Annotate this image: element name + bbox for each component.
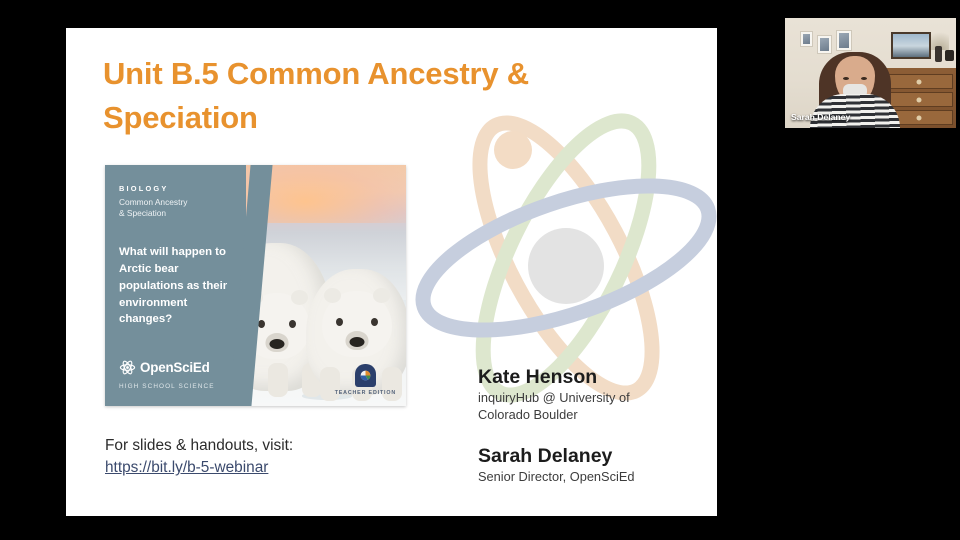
participant-name-label: Sarah Delaney [791, 112, 850, 122]
page-title: Unit B.5 Common Ancestry & Speciation [103, 52, 623, 140]
presenter-kate-henson: Kate Henson inquiryHub @ University of C… [478, 365, 703, 424]
status-badge: TEACHER EDITION [335, 364, 396, 396]
cover-subject: BIOLOGY [119, 184, 232, 193]
cover-unit-line-1: Common Ancestry [119, 197, 232, 208]
cover-text-panel: BIOLOGY Common Ancestry & Speciation Wha… [105, 165, 246, 406]
presenter-name: Sarah Delaney [478, 444, 703, 469]
teacher-edition-seal-icon [355, 364, 376, 387]
cover-unit-line-2: & Speciation [119, 208, 232, 219]
opensci-ed-logo: OpenSciEd [119, 359, 210, 376]
handouts-label: For slides & handouts, visit: [105, 435, 395, 457]
presenter-affiliation-line-1: Senior Director, OpenSciEd [478, 469, 703, 486]
cover-program-line: HIGH SCHOOL SCIENCE [119, 383, 215, 390]
handouts-link-block: For slides & handouts, visit: https://bi… [105, 435, 395, 480]
wall-picture-frame [800, 31, 813, 47]
atom-icon [119, 359, 136, 376]
webcam-video-tile[interactable]: Sarah Delaney [785, 18, 956, 128]
presenter-list: Kate Henson inquiryHub @ University of C… [478, 365, 703, 486]
teacher-edition-label: TEACHER EDITION [335, 390, 396, 396]
presentation-slide: Unit B.5 Common Ancestry & Speciation [66, 28, 717, 516]
cover-driving-question: What will happen to Arctic bear populati… [119, 244, 232, 328]
presenter-sarah-delaney: Sarah Delaney Senior Director, OpenSciEd [478, 444, 703, 486]
handouts-url-link[interactable]: https://bit.ly/b-5-webinar [105, 457, 268, 479]
presenter-affiliation-line-2: Colorado Boulder [478, 407, 703, 424]
presenter-name: Kate Henson [478, 365, 703, 390]
vase [935, 46, 942, 62]
wall-picture-frame [836, 30, 852, 51]
cup [945, 50, 954, 61]
video-player-stage: Unit B.5 Common Ancestry & Speciation [0, 0, 960, 540]
presenter-affiliation-line-1: inquiryHub @ University of [478, 390, 703, 407]
unit-cover-thumbnail: TEACHER EDITION BIOLOGY Common Ancestry … [105, 165, 406, 406]
opensci-ed-wordmark: OpenSciEd [140, 360, 210, 375]
